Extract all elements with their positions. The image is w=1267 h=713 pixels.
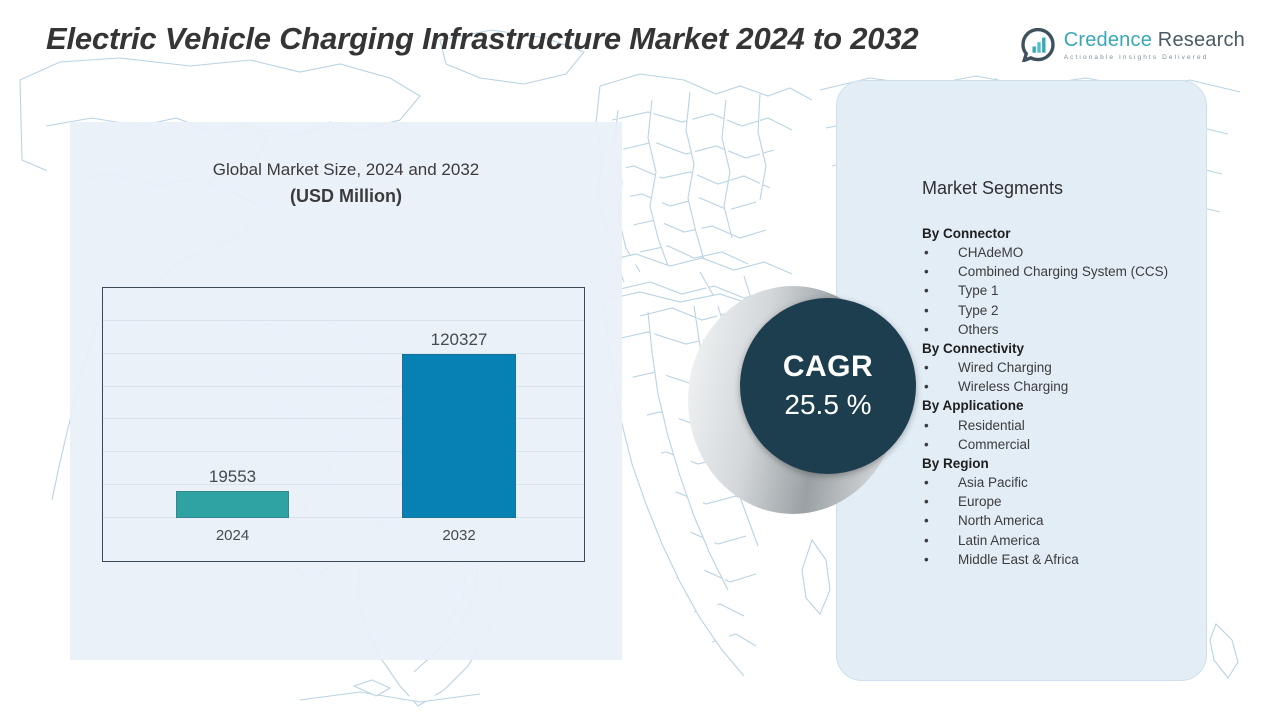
- bullet-icon: •: [922, 511, 958, 530]
- cagr-circle: CAGR 25.5 %: [740, 298, 916, 474]
- bullet-icon: •: [922, 416, 958, 435]
- segment-item-label: CHAdeMO: [958, 243, 1192, 262]
- segment-item-label: Type 2: [958, 301, 1192, 320]
- segment-item: •Combined Charging System (CCS): [922, 262, 1192, 281]
- bullet-icon: •: [922, 320, 958, 339]
- bar-2024: [176, 491, 289, 518]
- segment-item-label: Wireless Charging: [958, 377, 1192, 396]
- segments-groups: By Connector•CHAdeMO•Combined Charging S…: [922, 224, 1192, 569]
- bar-2032: [402, 354, 516, 518]
- segment-item: •Asia Pacific: [922, 473, 1192, 492]
- segment-item-label: Latin America: [958, 531, 1192, 550]
- segment-item-list: •Asia Pacific•Europe•North America•Latin…: [922, 473, 1192, 569]
- segment-item: •Commercial: [922, 435, 1192, 454]
- segment-group: By Applicatione•Residential•Commercial: [922, 396, 1192, 453]
- segment-item-list: •Wired Charging•Wireless Charging: [922, 358, 1192, 396]
- segment-item-label: Asia Pacific: [958, 473, 1192, 492]
- bar-group-2032: 120327 2032: [402, 354, 516, 518]
- market-segments: Market Segments By Connector•CHAdeMO•Com…: [922, 178, 1192, 569]
- bar-group-2024: 19553 2024: [176, 491, 289, 518]
- segment-item: •Europe: [922, 492, 1192, 511]
- segment-group: By Region•Asia Pacific•Europe•North Amer…: [922, 454, 1192, 569]
- bar-label-2024: 2024: [216, 527, 249, 544]
- bullet-icon: •: [922, 492, 958, 511]
- segment-group-heading: By Region: [922, 454, 1192, 473]
- segment-item-list: •CHAdeMO•Combined Charging System (CCS)•…: [922, 243, 1192, 339]
- segment-item: •Residential: [922, 416, 1192, 435]
- segment-item-label: Type 1: [958, 281, 1192, 300]
- bullet-icon: •: [922, 243, 958, 262]
- chart-heading: Global Market Size, 2024 and 2032 (USD M…: [70, 158, 622, 209]
- segment-item-label: Residential: [958, 416, 1192, 435]
- brand-name-second: Research: [1158, 29, 1245, 51]
- segment-item: •Wired Charging: [922, 358, 1192, 377]
- bar-value-2024: 19553: [209, 467, 256, 487]
- brand-name: Credence Research: [1064, 30, 1245, 51]
- segment-item-label: Others: [958, 320, 1192, 339]
- chart-heading-line-2: (USD Million): [70, 183, 622, 209]
- segment-item-list: •Residential•Commercial: [922, 416, 1192, 454]
- segment-item: •Wireless Charging: [922, 377, 1192, 396]
- bar-value-2032: 120327: [431, 330, 488, 350]
- bullet-icon: •: [922, 301, 958, 320]
- segment-item: •North America: [922, 511, 1192, 530]
- cagr-value: 25.5 %: [784, 387, 871, 422]
- segment-group-heading: By Applicatione: [922, 396, 1192, 415]
- segment-group-heading: By Connectivity: [922, 339, 1192, 358]
- bar-label-2032: 2032: [442, 527, 475, 544]
- cagr-badge: CAGR 25.5 %: [688, 286, 916, 514]
- brand-tagline: Actionable Insights Delivered: [1064, 54, 1245, 61]
- segment-item-label: North America: [958, 511, 1192, 530]
- chart-heading-line-1: Global Market Size, 2024 and 2032: [70, 158, 622, 183]
- brand-logo: Credence Research Actionable Insights De…: [1021, 28, 1245, 62]
- segment-group-heading: By Connector: [922, 224, 1192, 243]
- segments-title: Market Segments: [922, 178, 1192, 199]
- segment-item: •Middle East & Africa: [922, 550, 1192, 569]
- segment-item: •Type 1: [922, 281, 1192, 300]
- bullet-icon: •: [922, 531, 958, 550]
- segment-item-label: Europe: [958, 492, 1192, 511]
- gridline: [103, 320, 584, 321]
- bullet-icon: •: [922, 435, 958, 454]
- segment-item: •Latin America: [922, 531, 1192, 550]
- segment-item-label: Combined Charging System (CCS): [958, 262, 1192, 281]
- page-title: Electric Vehicle Charging Infrastructure…: [46, 20, 986, 58]
- bar-chart: 19553 2024 120327 2032: [102, 287, 585, 562]
- segment-item: •CHAdeMO: [922, 243, 1192, 262]
- segment-group: By Connector•CHAdeMO•Combined Charging S…: [922, 224, 1192, 339]
- bullet-icon: •: [922, 281, 958, 300]
- segment-group: By Connectivity•Wired Charging•Wireless …: [922, 339, 1192, 396]
- bar-chart-bubble-icon: [1021, 28, 1055, 62]
- bullet-icon: •: [922, 550, 958, 569]
- segment-item: •Others: [922, 320, 1192, 339]
- segment-item-label: Middle East & Africa: [958, 550, 1192, 569]
- bullet-icon: •: [922, 377, 958, 396]
- brand-name-first: Credence: [1064, 29, 1152, 51]
- segment-item-label: Commercial: [958, 435, 1192, 454]
- segment-item-label: Wired Charging: [958, 358, 1192, 377]
- bullet-icon: •: [922, 358, 958, 377]
- cagr-label: CAGR: [783, 350, 873, 385]
- bullet-icon: •: [922, 262, 958, 281]
- bullet-icon: •: [922, 473, 958, 492]
- segment-item: •Type 2: [922, 301, 1192, 320]
